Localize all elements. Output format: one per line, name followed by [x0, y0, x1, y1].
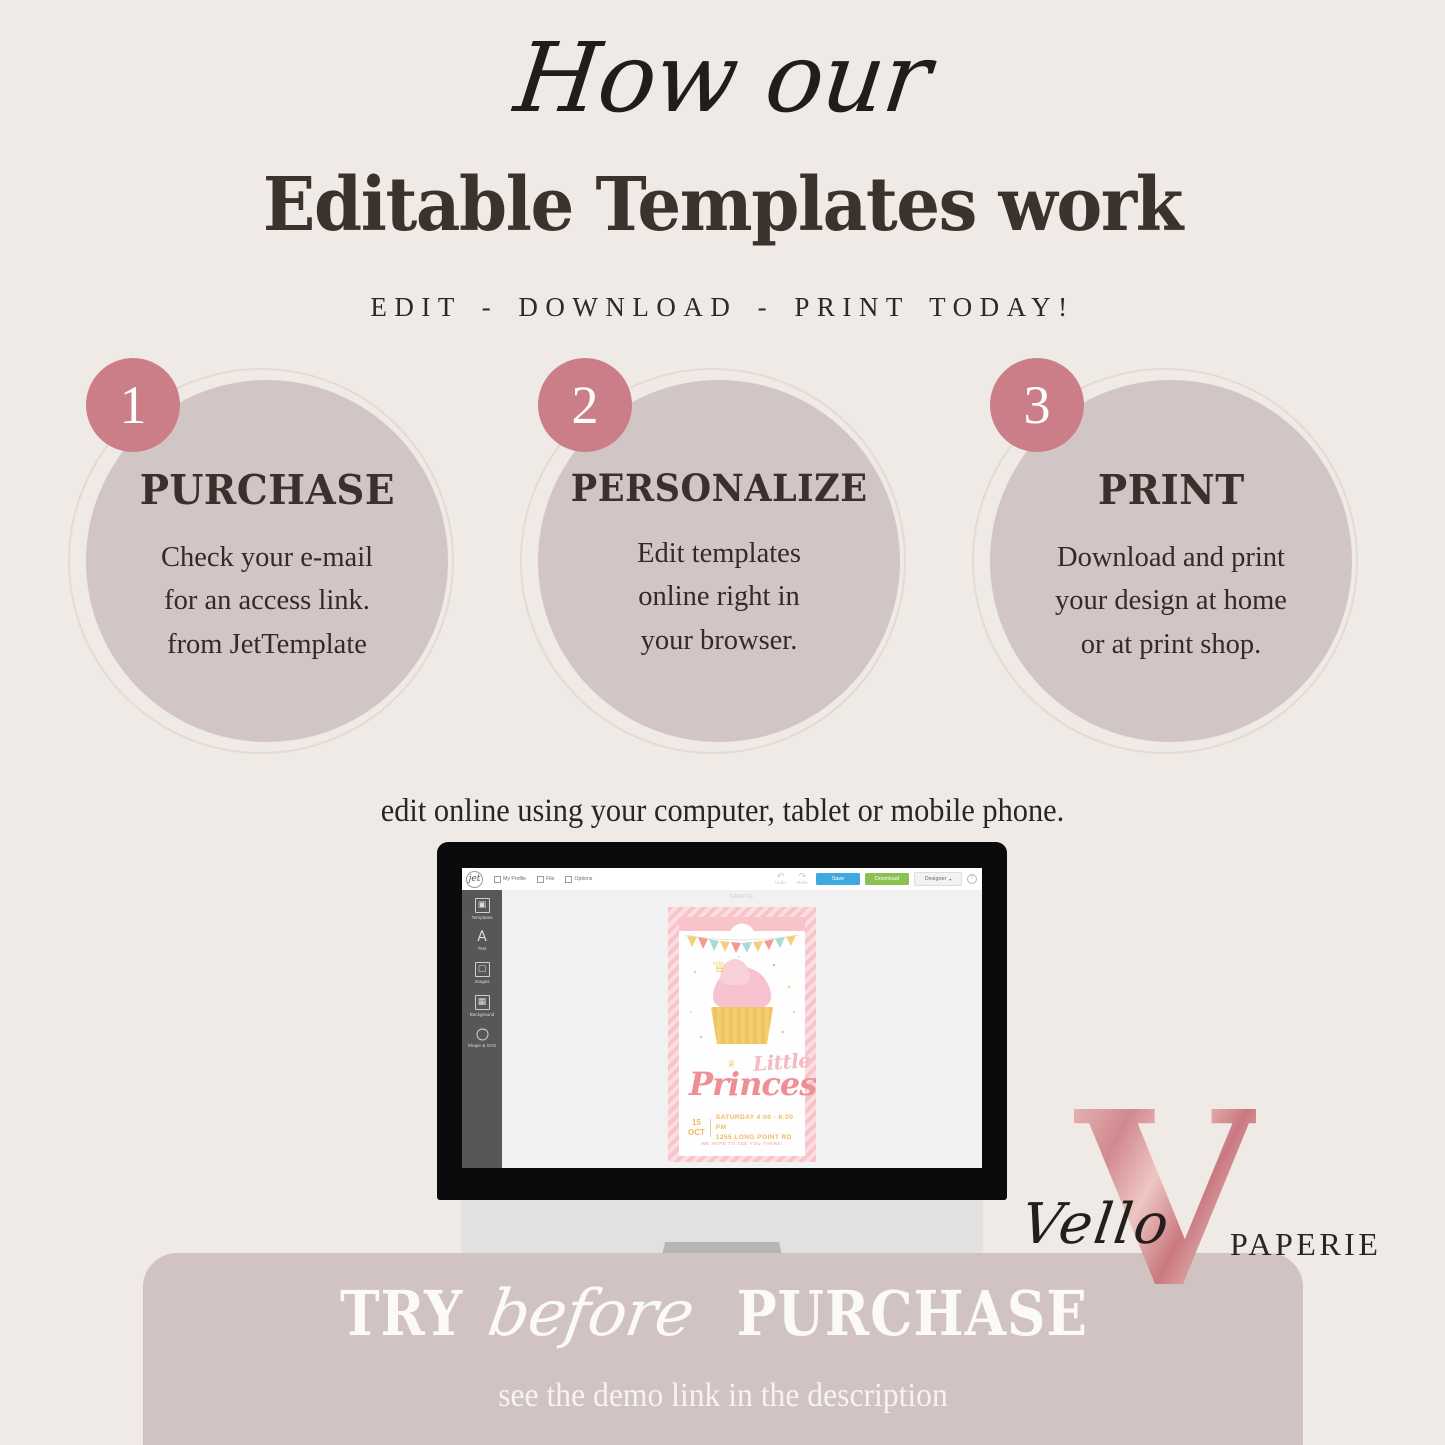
- toolbar-item-file[interactable]: File: [537, 876, 554, 883]
- save-button[interactable]: Save: [816, 873, 860, 885]
- toolbar-item-my-profile[interactable]: My Profile: [494, 876, 526, 883]
- step-number-badge: 1: [86, 358, 180, 452]
- undo-button[interactable]: ↶ Undo: [772, 872, 789, 885]
- download-button[interactable]: Download: [865, 873, 909, 885]
- step-title: PRINT: [1098, 466, 1245, 514]
- infographic-canvas: How our Editable Templates work EDIT - D…: [0, 0, 1445, 1445]
- step-card-personalize: 2 PERSONALIZE Edit templates online righ…: [520, 358, 920, 748]
- step-description: Edit templates online right in your brow…: [637, 532, 801, 662]
- step-description-line: Check your e-mail: [161, 536, 373, 579]
- card-footer-text: WE HOPE TO SEE YOU THERE!: [679, 1141, 805, 1146]
- step-description-line: or at print shop.: [1055, 623, 1287, 666]
- images-icon: ▢: [475, 962, 490, 977]
- step-description-line: from JetTemplate: [161, 623, 373, 666]
- banner-before-word: before: [483, 1277, 698, 1351]
- banner-try-word: TRY: [340, 1277, 463, 1350]
- undo-arrow-icon: ↶: [772, 872, 789, 880]
- designer-dropdown[interactable]: Designer ▾: [914, 872, 962, 886]
- step-title: PERSONALIZE: [571, 466, 868, 510]
- invitation-card[interactable]: ♕ ♕ Little Princess 15 OCT: [668, 907, 816, 1162]
- toolbar-item-label: My Profile: [503, 876, 526, 882]
- background-grid-icon: ▦: [475, 995, 490, 1010]
- jet-monogram-icon[interactable]: jet: [466, 871, 483, 888]
- sidebar-item-label: Images: [474, 979, 489, 984]
- editor-screen: jet My Profile File Options ↶ Undo: [462, 868, 982, 1168]
- step-description: Check your e-mail for an access link. fr…: [161, 536, 373, 666]
- cupcake-liner: [709, 1007, 775, 1044]
- step-description: Download and print your design at home o…: [1055, 536, 1287, 666]
- step-description-line: for an access link.: [161, 579, 373, 622]
- editor-sidebar: ▣ Templates A Text ▢ Images ▦ Background: [462, 890, 502, 1168]
- card-event-date: 15 OCT: [688, 1118, 705, 1137]
- help-icon[interactable]: ?: [967, 874, 977, 884]
- desktop-monitor-mockup: jet My Profile File Options ↶ Undo: [437, 842, 1007, 1294]
- step-number-badge: 3: [990, 358, 1084, 452]
- editor-canvas[interactable]: SAMPLE: [502, 890, 982, 1168]
- shape-svg-icon: [476, 1028, 489, 1041]
- header-subtitle: EDIT - DOWNLOAD - PRINT TODAY!: [0, 292, 1445, 323]
- logo-script-name: Vello: [1017, 1192, 1174, 1257]
- user-icon: [494, 876, 501, 883]
- crown-icon: ♕: [713, 961, 731, 973]
- undo-label: Undo: [775, 880, 786, 885]
- card-event-details: 15 OCT SATURDAY 4:00 - 6:00 PM 1255 LONG…: [688, 1113, 798, 1143]
- redo-label: Redo: [797, 880, 808, 885]
- templates-icon: ▣: [475, 898, 490, 913]
- banner-subtitle: see the demo link in the description: [184, 1377, 1263, 1415]
- step-title: PURCHASE: [139, 466, 394, 514]
- sidebar-item-shape-svg[interactable]: Shape & SVG: [462, 1028, 502, 1048]
- divider: [710, 1119, 711, 1137]
- sidebar-item-label: Shape & SVG: [468, 1043, 497, 1048]
- toolbar-item-label: File: [546, 876, 554, 882]
- canvas-sample-label: SAMPLE: [502, 894, 982, 900]
- cupcake-icon: ♕: [701, 959, 783, 1044]
- sidebar-item-text[interactable]: A Text: [462, 931, 502, 951]
- step-description-line: your browser.: [637, 619, 801, 662]
- step-card-purchase: 1 PURCHASE Check your e-mail for an acce…: [68, 358, 468, 748]
- sidebar-item-images[interactable]: ▢ Images: [462, 962, 502, 984]
- sliders-icon: [565, 876, 572, 883]
- card-event-month: OCT: [688, 1128, 705, 1137]
- step-description-line: Download and print: [1055, 536, 1287, 579]
- step-number-badge: 2: [538, 358, 632, 452]
- step-description-line: your design at home: [1055, 579, 1287, 622]
- card-event-day: 15: [688, 1118, 705, 1127]
- toolbar-item-label: Options: [574, 876, 592, 882]
- card-event-lines: SATURDAY 4:00 - 6:00 PM 1255 LONG POINT …: [716, 1113, 798, 1143]
- brand-logo: V Vello PAPERIE: [1022, 1100, 1382, 1290]
- card-inner-panel: ♕ ♕ Little Princess 15 OCT: [679, 917, 805, 1156]
- sidebar-item-label: Templates: [472, 915, 493, 920]
- step-description-line: online right in: [637, 575, 801, 618]
- sidebar-item-label: Background: [470, 1012, 495, 1017]
- chevron-down-icon: ▾: [949, 877, 951, 882]
- redo-arrow-icon: ↷: [794, 872, 811, 880]
- device-caption: edit online using your computer, tablet …: [58, 793, 1387, 830]
- step-card-print: 3 PRINT Download and print your design a…: [972, 358, 1372, 748]
- redo-button[interactable]: ↷ Redo: [794, 872, 811, 885]
- card-title-main: Princess: [689, 1065, 816, 1103]
- file-icon: [537, 876, 544, 883]
- logo-word-paperie: PAPERIE: [1230, 1226, 1381, 1263]
- card-event-time: SATURDAY 4:00 - 6:00 PM: [716, 1113, 798, 1133]
- page-title: Editable Templates work: [51, 168, 1395, 242]
- sidebar-item-templates[interactable]: ▣ Templates: [462, 898, 502, 920]
- sidebar-item-background[interactable]: ▦ Background: [462, 995, 502, 1017]
- step-description-line: Edit templates: [637, 532, 801, 575]
- text-icon: A: [476, 931, 489, 944]
- sidebar-item-label: Text: [478, 946, 486, 951]
- toolbar-item-options[interactable]: Options: [565, 876, 592, 883]
- editor-toolbar: jet My Profile File Options ↶ Undo: [462, 868, 982, 891]
- steps-row: 1 PURCHASE Check your e-mail for an acce…: [0, 358, 1445, 758]
- designer-dropdown-label: Designer: [925, 876, 947, 882]
- header-script-line: How our: [0, 28, 1445, 129]
- toolbar-right-group: ↶ Undo ↷ Redo Save Download Designer ▾ ?: [772, 872, 982, 886]
